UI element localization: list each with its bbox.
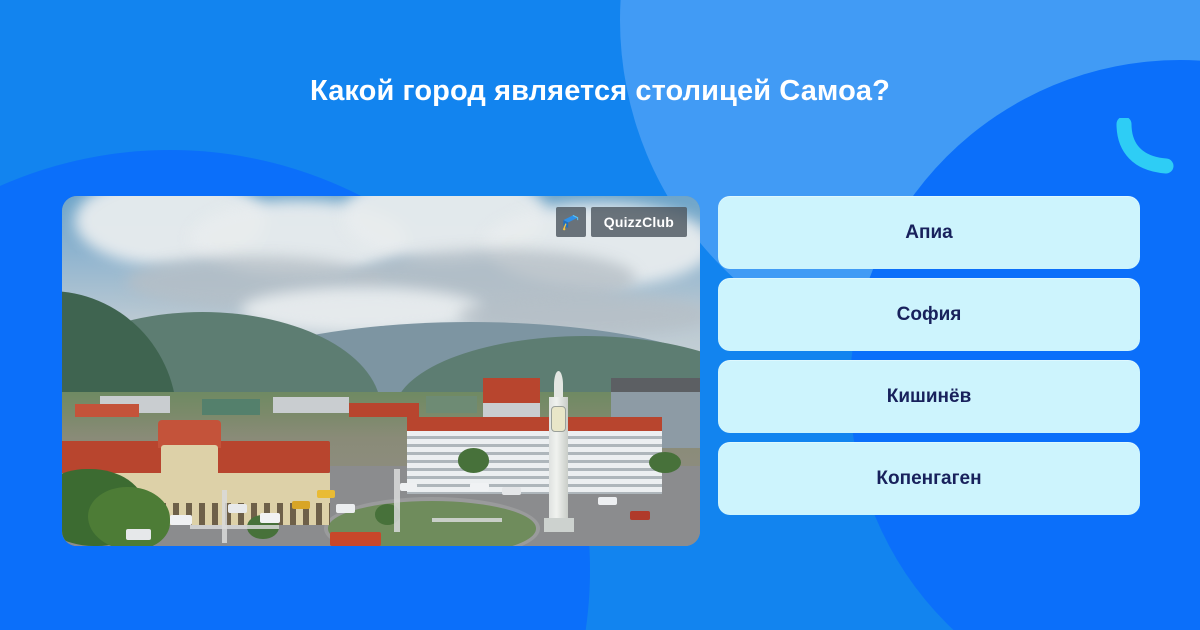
car [292,501,310,509]
car [260,513,280,523]
distant-building [349,403,419,417]
answer-option-2-label: София [897,304,962,326]
car [470,483,489,491]
clock-tower-cap [554,371,564,400]
clock-face [551,406,567,432]
car [317,490,335,498]
colonial-building-entrance [161,445,218,491]
question-image-card: QuizzClub [62,196,700,546]
car [630,511,650,520]
answer-option-1[interactable]: Апиа [718,196,1140,269]
content-row: QuizzClub Апиа София Кишинёв Копенгаген [0,196,1200,548]
lamp-post [222,490,227,543]
distant-building [273,397,350,413]
road-marking [190,525,279,529]
palm-tree [649,452,681,473]
answer-option-3[interactable]: Кишинёв [718,360,1140,433]
answer-option-4[interactable]: Копенгаген [718,442,1140,515]
distant-building [202,399,259,415]
colonial-building-turret [158,420,222,448]
quizzclub-logo-badge[interactable]: QuizzClub [556,207,687,237]
car [170,515,192,526]
answer-option-2[interactable]: София [718,278,1140,351]
car [400,483,417,491]
car [336,504,355,513]
answer-option-1-label: Апиа [905,222,952,244]
government-building [407,431,662,494]
red-roof-block [483,378,540,403]
car [598,497,617,505]
clock-tower-base [544,518,574,532]
road-marking [432,518,502,522]
graduation-cap-icon [556,207,586,237]
car [228,504,247,513]
accent-curve-icon [1116,118,1178,174]
apia-clock-tower [544,371,574,532]
page-title: Какой город является столицей Самоа? [0,74,1200,109]
bus [330,532,381,546]
distant-building [75,404,139,416]
answer-options-list: Апиа София Кишинёв Копенгаген [718,196,1140,515]
car [502,487,521,495]
palm-tree [458,448,490,473]
lamp-post [394,469,400,532]
question-photo [62,196,700,546]
car [126,529,152,540]
answer-option-3-label: Кишинёв [887,386,972,408]
quizzclub-wordmark: QuizzClub [591,207,687,237]
office-building-roof [611,378,700,392]
answer-option-4-label: Копенгаген [876,468,981,490]
distant-building [426,396,477,414]
